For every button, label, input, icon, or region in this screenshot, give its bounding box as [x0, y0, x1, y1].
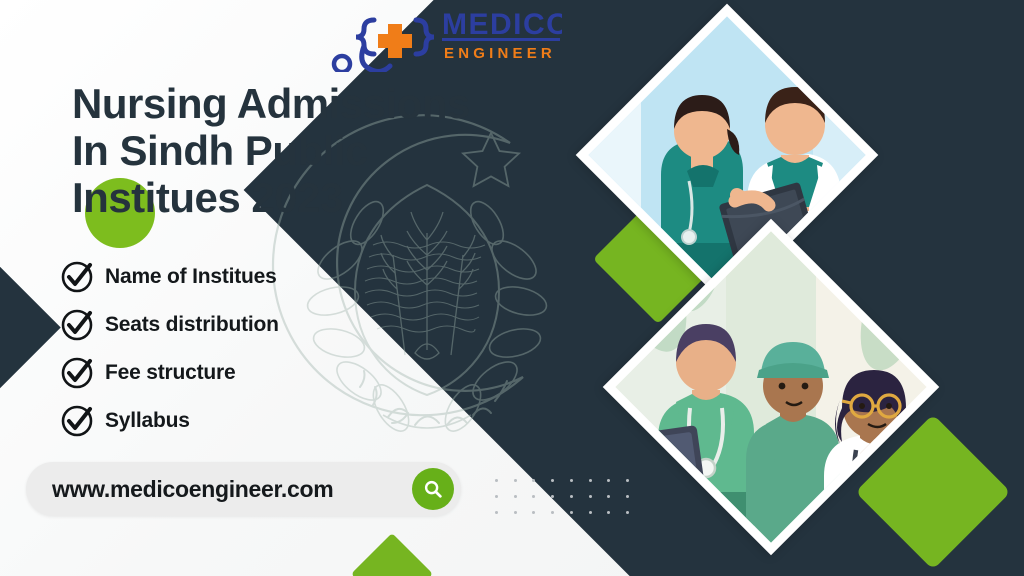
brand-logo[interactable]: MEDICO ENGINEER	[322, 2, 562, 72]
list-item: Syllabus	[60, 397, 279, 445]
website-url-text: www.medicoengineer.com	[26, 476, 412, 503]
list-item: Fee structure	[60, 349, 279, 397]
medical-cross-icon	[378, 24, 412, 58]
logo-secondary-text: ENGINEER	[444, 45, 556, 62]
check-circle-icon	[60, 356, 94, 390]
page-title-line-1: Nursing Admissions	[72, 80, 592, 127]
feature-checklist: Name of Institues Seats distribution Fee…	[60, 253, 279, 445]
list-item-label: Name of Institues	[105, 265, 277, 289]
green-diamond-bottom	[351, 533, 433, 576]
page-title-line-3: Institues 2023	[72, 174, 592, 221]
list-item-label: Seats distribution	[105, 313, 279, 337]
dot-grid-decoration	[487, 472, 637, 520]
list-item: Name of Institues	[60, 253, 279, 301]
list-item-label: Syllabus	[105, 409, 190, 433]
page-title-line-2: In Sindh Public	[72, 127, 592, 174]
list-item: Seats distribution	[60, 301, 279, 349]
page-title: Nursing Admissions In Sindh Public Insti…	[72, 80, 592, 221]
navy-diamond-left	[0, 253, 61, 401]
logo-primary-text: MEDICO	[442, 8, 562, 41]
list-item-label: Fee structure	[105, 361, 235, 385]
check-circle-icon	[60, 404, 94, 438]
search-button[interactable]	[412, 468, 454, 510]
check-circle-icon	[60, 308, 94, 342]
website-url-bar[interactable]: www.medicoengineer.com	[26, 462, 461, 516]
poster-canvas: MEDICO ENGINEER Nursing Admissions In Si…	[0, 0, 1024, 576]
check-circle-icon	[60, 260, 94, 294]
search-magnifier-icon	[422, 478, 444, 500]
